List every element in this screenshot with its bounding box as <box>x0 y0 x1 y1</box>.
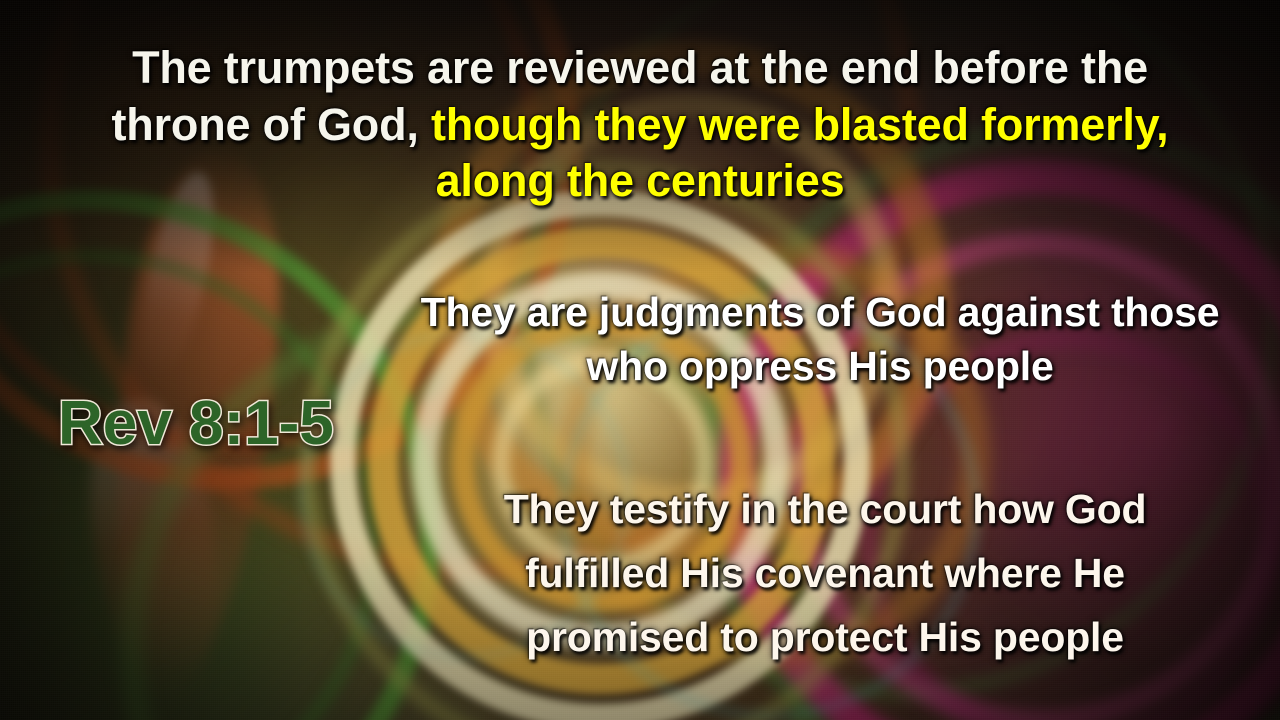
text-block-bottom: They testify in the court how God fulfil… <box>430 478 1220 670</box>
text-top-highlight: though they were blasted formerly, along… <box>431 99 1169 207</box>
text-block-top: The trumpets are reviewed at the end bef… <box>60 40 1220 210</box>
text-block-middle: They are judgments of God against those … <box>420 285 1220 393</box>
scripture-reference-label: Rev 8:1-5 <box>58 388 334 459</box>
presentation-slide: The trumpets are reviewed at the end bef… <box>0 0 1280 720</box>
